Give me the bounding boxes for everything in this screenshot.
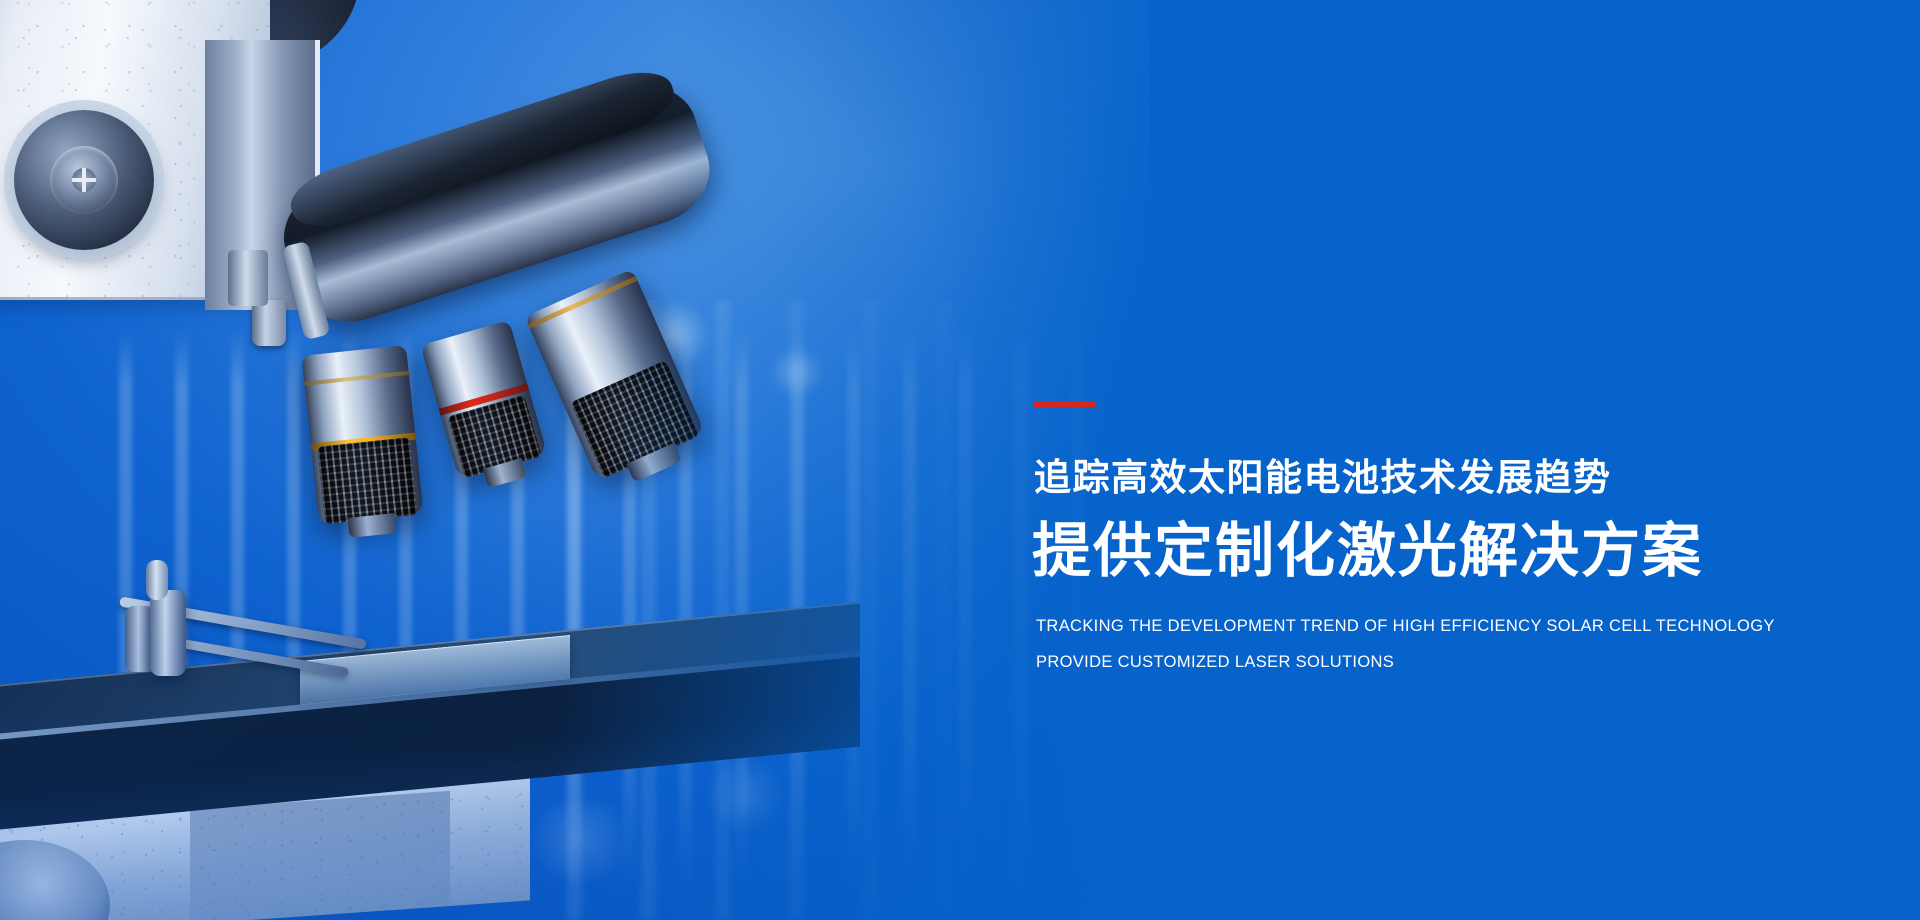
subtitle-english-line-2: PROVIDE CUSTOMIZED LASER SOLUTIONS: [1036, 653, 1394, 672]
headline-title-cn: 提供定制化激光解决方案: [1032, 516, 1703, 587]
subtitle-english-line-1: TRACKING THE DEVELOPMENT TREND OF HIGH E…: [1036, 617, 1775, 636]
headline-subtitle-cn: 追踪高效太阳能电池技术发展趋势: [1034, 456, 1612, 500]
accent-rule: [1034, 402, 1096, 407]
hero-copy: 追踪高效太阳能电池技术发展趋势 提供定制化激光解决方案 TRACKING THE…: [1034, 0, 1920, 920]
hero-banner: 追踪高效太阳能电池技术发展趋势 提供定制化激光解决方案 TRACKING THE…: [0, 0, 1920, 920]
photo-fade-to-blue: [0, 0, 1150, 920]
microscope-photo: [0, 0, 1150, 920]
